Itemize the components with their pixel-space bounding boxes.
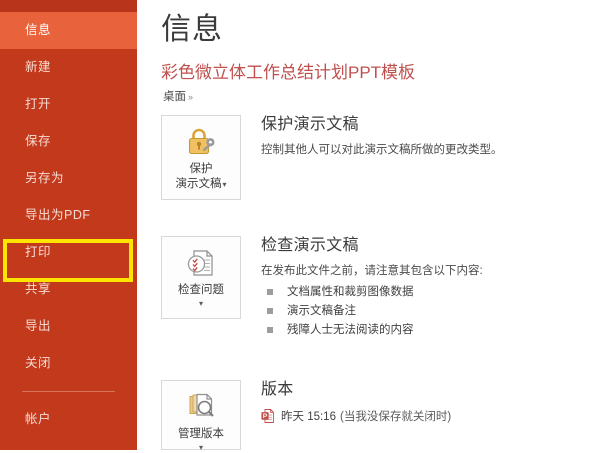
manage-versions-icon [162,389,240,425]
list-item-label: 文档属性和裁剪图像数据 [287,286,414,298]
sidebar-item-label: 导出为PDF [25,208,91,222]
sidebar-item-close[interactable]: 关闭 [0,345,137,382]
check-for-issues-button[interactable]: 检查问题 ▾ [161,236,241,319]
check-for-issues-label: 检查问题 [162,283,240,298]
list-item-label: 演示文稿备注 [287,305,356,317]
versions-section-body: 版本 P 昨天 15:16 (当我没保 [261,380,600,424]
page-title: 信息 [161,4,223,48]
check-for-issues-label-row: 检查问题 ▾ [162,283,240,309]
bullet-square-icon [267,327,273,333]
sidebar-top-strip [0,0,137,12]
manage-versions-label-row: 管理版本 ▾ [162,427,240,453]
inspect-issue-list: 文档属性和裁剪图像数据 演示文稿备注 残障人士无法阅读的内容 [261,283,600,340]
backstage-content-pane: 信息 彩色微立体工作总结计划PPT模板 桌面» [137,0,600,450]
sidebar-item-label: 信息 [25,23,51,37]
protect-button-label: 保护 演示文稿▾ [162,162,240,192]
version-timestamp: 昨天 15:16 [281,408,336,424]
list-item: 文档属性和裁剪图像数据 [261,283,600,302]
sidebar-item-label: 打印 [25,245,51,259]
sidebar-item-new[interactable]: 新建 [0,49,137,86]
manage-versions-button[interactable]: 管理版本 ▾ [161,380,241,450]
sidebar-divider [0,382,137,401]
protect-section-description: 控制其他人可以对此演示文稿所做的更改类型。 [261,142,600,158]
document-inspect-icon [162,245,240,281]
protect-section-body: 保护演示文稿 控制其他人可以对此演示文稿所做的更改类型。 [261,115,600,158]
path-separator-icon: » [188,92,193,102]
chevron-down-icon: ▾ [162,299,240,309]
document-path[interactable]: 桌面» [163,88,193,104]
sidebar-item-open[interactable]: 打开 [0,86,137,123]
sidebar-item-label: 保存 [25,134,51,148]
chevron-down-icon: ▾ [162,443,240,453]
inspect-section-body: 检查演示文稿 在发布此文件之前，请注意其包含以下内容: 文档属性和裁剪图像数据 … [261,236,600,340]
version-note: (当我没保存就关闭时) [340,408,451,424]
protect-presentation-button[interactable]: 保护 演示文稿▾ [161,115,241,200]
powerpoint-file-icon: P [261,409,274,423]
sidebar-item-label: 新建 [25,60,51,74]
sidebar-item-label: 共享 [25,282,51,296]
sidebar-item-label: 另存为 [25,171,64,185]
backstage-sidebar: 信息 新建 打开 保存 另存为 导出为PDF 打印 共享 [0,0,137,450]
sidebar-menu: 信息 新建 打开 保存 另存为 导出为PDF 打印 共享 [0,12,137,438]
protect-button-label-line2: 演示文稿 [175,178,221,190]
protect-button-label-line2-row: 演示文稿▾ [162,177,240,192]
bullet-square-icon [267,308,273,314]
document-name: 彩色微立体工作总结计划PPT模板 [161,58,415,83]
version-entry[interactable]: P 昨天 15:16 (当我没保存就关闭时) [261,408,600,424]
sidebar-item-save[interactable]: 保存 [0,123,137,160]
sidebar-item-label: 打开 [25,97,51,111]
list-item-label: 残障人士无法阅读的内容 [287,324,414,336]
sidebar-item-label: 导出 [25,319,51,333]
document-path-label: 桌面 [163,91,186,103]
chevron-down-icon: ▾ [222,180,226,189]
sidebar-item-save-as[interactable]: 另存为 [0,160,137,197]
sidebar-item-label: 关闭 [25,356,51,370]
svg-text:P: P [263,413,268,420]
list-item: 残障人士无法阅读的内容 [261,321,600,340]
bullet-square-icon [267,289,273,295]
powerpoint-backstage-window: 信息 新建 打开 保存 另存为 导出为PDF 打印 共享 [0,0,600,450]
protect-section-heading: 保护演示文稿 [261,115,600,135]
manage-versions-label: 管理版本 [162,427,240,442]
versions-section-heading: 版本 [261,380,600,400]
sidebar-item-info[interactable]: 信息 [0,12,137,49]
inspect-section-heading: 检查演示文稿 [261,236,600,256]
sidebar-item-account[interactable]: 帐户 [0,401,137,438]
inspect-section-description: 在发布此文件之前，请注意其包含以下内容: [261,263,600,279]
sidebar-item-export[interactable]: 导出 [0,308,137,345]
sidebar-item-export-pdf[interactable]: 导出为PDF [0,197,137,234]
lock-key-icon [162,124,240,160]
protect-button-label-line1: 保护 [162,162,240,177]
sidebar-item-share[interactable]: 共享 [0,271,137,308]
sidebar-item-print[interactable]: 打印 [0,234,137,271]
list-item: 演示文稿备注 [261,302,600,321]
sidebar-item-label: 帐户 [25,412,51,426]
